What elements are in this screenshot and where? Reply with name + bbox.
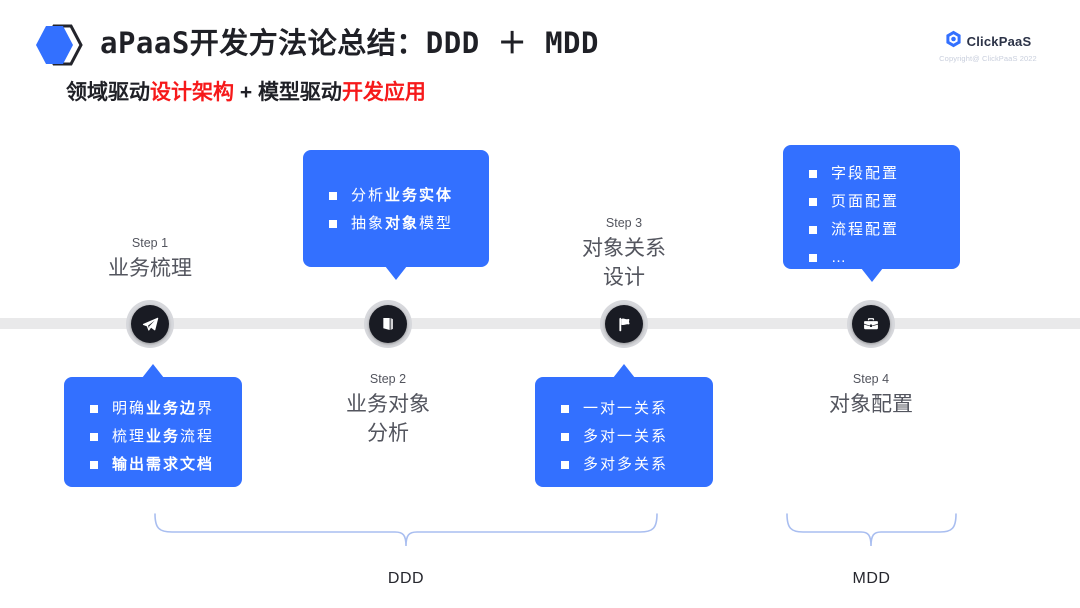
step-title-2: 业务对象 分析 <box>288 390 488 448</box>
callout-item: 页面配置 <box>809 188 960 216</box>
brand-block: ClickPaaS Copyright@ ClickPaaS 2022 <box>928 30 1048 63</box>
bullet-square-icon <box>90 405 98 413</box>
paper-plane-icon <box>131 305 169 343</box>
bullet-square-icon <box>561 405 569 413</box>
timeline-node-step-1[interactable] <box>126 300 174 348</box>
subtitle-part-1: 领域驱动 <box>66 81 150 104</box>
callout-item: 字段配置 <box>809 160 960 188</box>
callout-text-strong: 输出需求文档 <box>112 451 214 479</box>
step-caption-3: Step 3 对象关系 设计 <box>524 214 724 292</box>
bullet-square-icon <box>809 170 817 178</box>
callout-step-4[interactable]: 字段配置 页面配置 流程配置 … <box>783 145 960 269</box>
hexagon-logo-icon <box>32 22 90 68</box>
callout-step-3[interactable]: 一对一关系 多对一关系 多对多关系 <box>535 377 713 487</box>
callout-step-1[interactable]: 明确业务边界 梳理业务流程 输出需求文档 <box>64 377 242 487</box>
callout-text-strong: 业务边 <box>146 395 197 423</box>
step-number-3: Step 3 <box>524 214 724 232</box>
callout-text-tail: … <box>831 244 848 272</box>
callout-text-tail: 流程配置 <box>831 216 899 244</box>
callout-text-tail: 字段配置 <box>831 160 899 188</box>
callout-text-tail: 一对一关系 <box>583 395 668 423</box>
brace-group-mdd: MDD <box>783 512 960 588</box>
callout-text-plain: 明确 <box>112 395 146 423</box>
callout-item: 多对一关系 <box>561 423 713 451</box>
callout-tail-down-4 <box>861 268 883 282</box>
subtitle-part-3: + <box>234 81 258 104</box>
subtitle-part-4: 模型驱动 <box>258 81 342 104</box>
callout-text-plain: 分析 <box>351 182 385 210</box>
callout-text-tail: 模型 <box>419 210 453 238</box>
bullet-square-icon <box>809 226 817 234</box>
step-number-1: Step 1 <box>50 234 250 252</box>
callout-text-strong: 对象 <box>385 210 419 238</box>
callout-tail-up-3 <box>613 364 635 378</box>
callout-item: 输出需求文档 <box>90 451 242 479</box>
step-caption-2: Step 2 业务对象 分析 <box>288 370 488 448</box>
step-title-4: 对象配置 <box>771 390 971 419</box>
callout-item: 梳理业务流程 <box>90 423 242 451</box>
callout-tail-down-2 <box>385 266 407 280</box>
brand-copyright: Copyright@ ClickPaaS 2022 <box>928 54 1048 63</box>
brand-row: ClickPaaS <box>928 30 1048 53</box>
brace-label-ddd: DDD <box>150 570 662 588</box>
callout-text-tail: 多对一关系 <box>583 423 668 451</box>
callout-item: 多对多关系 <box>561 451 713 479</box>
brace-group-ddd: DDD <box>150 512 662 588</box>
step-title-3: 对象关系 设计 <box>524 234 724 292</box>
bullet-square-icon <box>329 192 337 200</box>
subtitle-part-5: 开发应用 <box>342 81 426 104</box>
callout-text-strong: 业务 <box>146 423 180 451</box>
callout-text-tail: 界 <box>197 395 214 423</box>
callout-tail-up-1 <box>142 364 164 378</box>
bullet-square-icon <box>329 220 337 228</box>
step-number-4: Step 4 <box>771 370 971 388</box>
callout-text-plain: 抽象 <box>351 210 385 238</box>
clickpaas-hexagon-icon <box>945 30 962 53</box>
timeline-node-step-4[interactable] <box>847 300 895 348</box>
callout-text-tail: 页面配置 <box>831 188 899 216</box>
callout-item: 流程配置 <box>809 216 960 244</box>
callout-text-strong: 业务实体 <box>385 182 453 210</box>
briefcase-icon <box>852 305 890 343</box>
flag-icon <box>605 305 643 343</box>
callout-item: 一对一关系 <box>561 395 713 423</box>
bullet-square-icon <box>561 461 569 469</box>
step-caption-4: Step 4 对象配置 <box>771 370 971 419</box>
callout-item: 明确业务边界 <box>90 395 242 423</box>
callout-step-2[interactable]: 分析业务实体 抽象对象模型 <box>303 150 489 267</box>
callout-text-tail: 多对多关系 <box>583 451 668 479</box>
callout-item: 分析业务实体 <box>329 182 489 210</box>
bullet-square-icon <box>90 433 98 441</box>
callout-item: … <box>809 244 960 272</box>
callout-text-plain: 梳理 <box>112 423 146 451</box>
page-title: aPaaS开发方法论总结：DDD ＋ MDD <box>100 23 599 63</box>
bullet-square-icon <box>561 433 569 441</box>
curly-brace-icon <box>150 512 662 548</box>
timeline-node-step-3[interactable] <box>600 300 648 348</box>
timeline-node-step-2[interactable] <box>364 300 412 348</box>
brace-label-mdd: MDD <box>783 570 960 588</box>
book-icon <box>369 305 407 343</box>
step-caption-1: Step 1 业务梳理 <box>50 234 250 283</box>
bullet-square-icon <box>809 254 817 262</box>
bullet-square-icon <box>90 461 98 469</box>
subtitle-part-2: 设计架构 <box>150 81 234 104</box>
curly-brace-icon <box>783 512 960 548</box>
callout-text-tail: 流程 <box>180 423 214 451</box>
step-title-1: 业务梳理 <box>50 254 250 283</box>
callout-item: 抽象对象模型 <box>329 210 489 238</box>
brand-name: ClickPaaS <box>967 34 1032 49</box>
step-number-2: Step 2 <box>288 370 488 388</box>
bullet-square-icon <box>809 198 817 206</box>
page-subtitle: 领域驱动设计架构 + 模型驱动开发应用 <box>66 78 426 108</box>
